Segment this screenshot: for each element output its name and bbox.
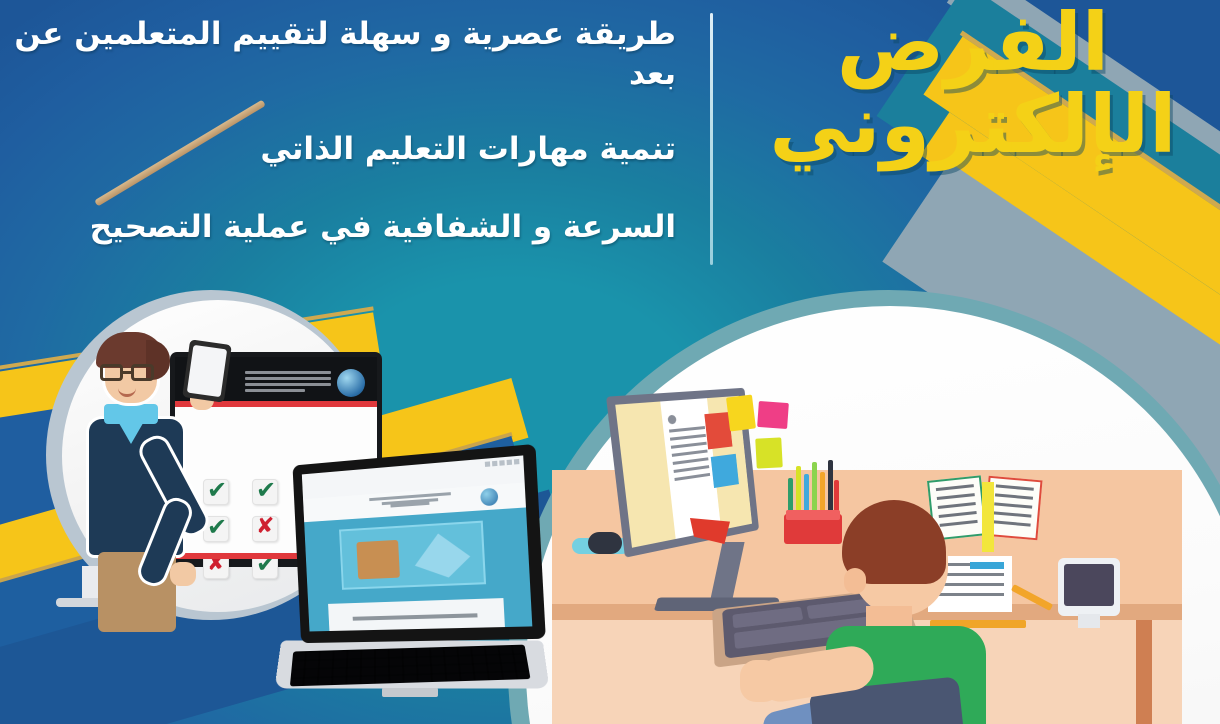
grid-cell (252, 516, 278, 542)
teacher-hand-lower (170, 562, 196, 586)
site-hero-banner (339, 521, 486, 590)
grid-cell (252, 479, 278, 505)
laptop (278, 455, 546, 695)
sticky-note-pink (757, 401, 789, 429)
browser-window-dots (485, 459, 520, 467)
desk-leg (1136, 620, 1152, 724)
globe-logo-icon (337, 369, 365, 397)
sticky-note-yellow (726, 395, 756, 432)
hero-thumbnail (356, 540, 400, 580)
glasses-icon (100, 364, 158, 381)
feature-item-2: تنمية مهارات التعليم الذاتي (10, 129, 690, 169)
desk-tablet (1058, 558, 1120, 616)
pen-cup (784, 482, 842, 544)
site-logo-icon (480, 488, 498, 507)
site-title-lines (369, 492, 451, 509)
laptop-screen (302, 455, 532, 631)
student-ear (844, 568, 866, 594)
sticky-note-lime (755, 437, 783, 468)
student-hand (740, 660, 780, 702)
tablet-stand (1078, 614, 1100, 628)
laptop-lid (292, 444, 545, 643)
monitor-neck (709, 542, 744, 604)
pen-cup-rim (786, 510, 840, 520)
monitor-header-text (245, 371, 331, 395)
site-text-card (328, 598, 505, 631)
tablet-screen (1064, 564, 1114, 606)
feature-item-1: طريقة عصرية و سهلة لتقييم المتعلمين عن ب… (10, 14, 690, 95)
poster-canvas: الفرض الإلكتروني طريقة عصرية و سهلة لتقي… (0, 0, 1220, 724)
student-figure (836, 494, 1056, 724)
title-line-1: الفرض (748, 2, 1198, 84)
document-page-left (615, 401, 676, 547)
title-line-2: الإلكتروني (748, 84, 1198, 166)
page-title: الفرض الإلكتروني (748, 2, 1198, 165)
vertical-divider (710, 13, 713, 265)
teacher-figure (74, 320, 210, 620)
hero-watermark (413, 532, 471, 579)
highlight-box-blue (711, 454, 739, 489)
feature-item-3: السرعة و الشفافية في عملية التصحيح (10, 207, 690, 247)
feature-list: طريقة عصرية و سهلة لتقييم المتعلمين عن ب… (10, 14, 690, 247)
laptop-trackpad (382, 688, 438, 697)
clipboard (182, 339, 232, 402)
